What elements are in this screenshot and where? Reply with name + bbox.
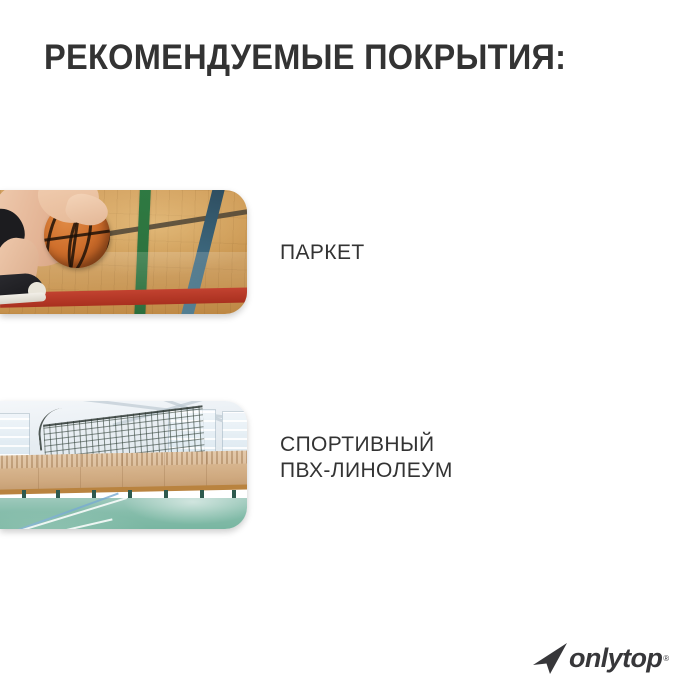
slide-canvas: РЕКОМЕНДУЕМЫЕ ПОКРЫТИЯ: [0, 0, 700, 700]
onlytop-arrow-icon [531, 641, 571, 675]
page-title: РЕКОМЕНДУЕМЫЕ ПОКРЫТИЯ: [44, 38, 566, 78]
hall-window [0, 413, 30, 457]
registered-trademark-icon: ® [663, 654, 669, 663]
coverage-label-pvc-linoleum: СПОРТИВНЫЙ ПВХ-ЛИНОЛЕУМ [280, 432, 453, 484]
coverage-label-parquet: ПАРКЕТ [280, 240, 365, 266]
sports-hall-pvc-linoleum-photo [0, 401, 247, 529]
coverage-card-pvc-linoleum [0, 401, 247, 529]
parquet-basketball-court-photo [0, 190, 247, 314]
floor-reflection [0, 498, 247, 529]
brand-logo: onlytop ® [531, 640, 683, 676]
brand-logo-text: onlytop [569, 645, 662, 672]
coverage-card-parquet [0, 190, 247, 314]
